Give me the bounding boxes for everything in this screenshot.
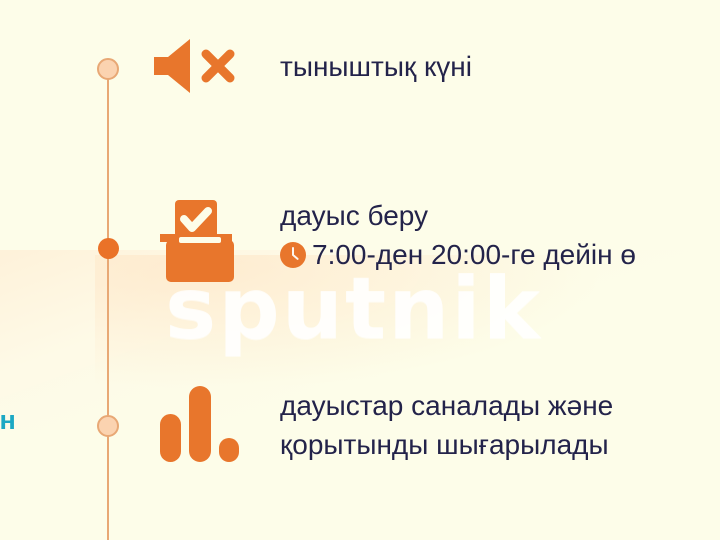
- step-1-title: тыныштық күні: [280, 51, 472, 82]
- step-2-subtitle: 7:00-ден 20:00-ге дейін ө: [312, 239, 636, 270]
- speaker-mute-icon: [150, 36, 245, 101]
- step-3-text: дауыстар саналады және қорытынды шығарыл…: [280, 386, 613, 464]
- step-2-text: дауыс беру 7:00-ден 20:00-ге дейін ө: [280, 196, 636, 274]
- ballot-box-icon: [150, 196, 250, 291]
- timeline-line: [107, 70, 109, 540]
- side-label: ан: [0, 405, 16, 436]
- timeline-dot-1: [97, 58, 119, 80]
- timeline-dot-2: [98, 238, 119, 259]
- step-3-subtitle: қорытынды шығарылады: [280, 425, 613, 464]
- step-2-subtitle-line: 7:00-ден 20:00-ге дейін ө: [280, 235, 636, 274]
- infographic-canvas: sputnik ан тыныштық күні: [0, 0, 720, 540]
- step-2-title: дауыс беру: [280, 200, 428, 231]
- step-1-text: тыныштық күні: [280, 47, 472, 86]
- step-3-title: дауыстар саналады және: [280, 390, 613, 421]
- clock-icon: [280, 242, 306, 268]
- timeline-dot-3: [97, 415, 119, 437]
- bar-chart-icon: [150, 378, 250, 473]
